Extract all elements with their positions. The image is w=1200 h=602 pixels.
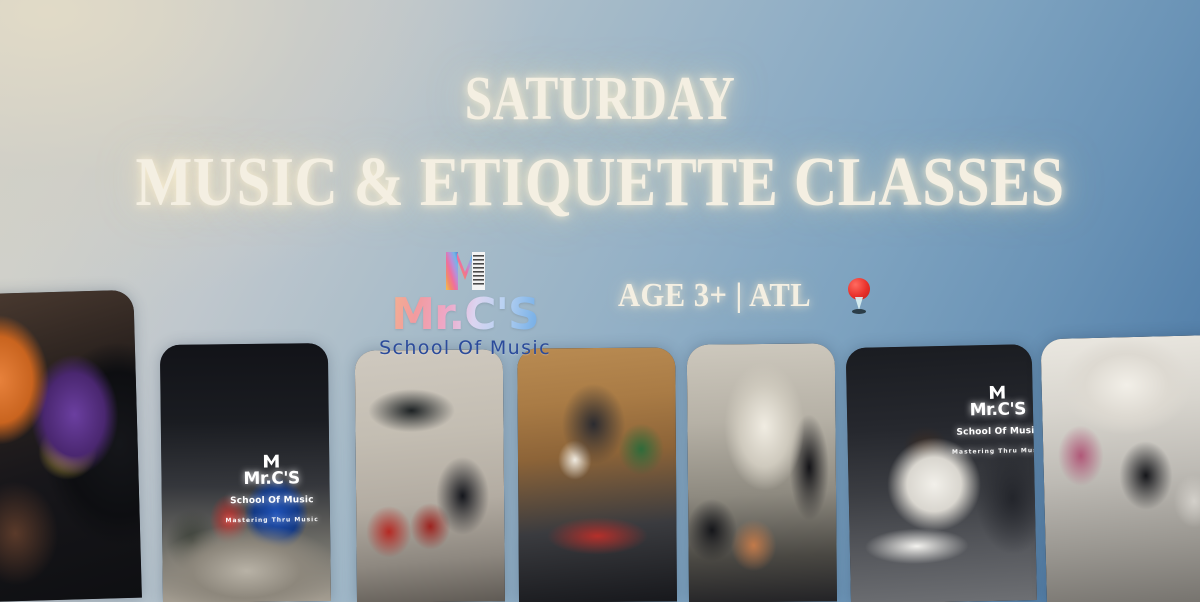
- brand-logo: Mr.C'S School Of Music: [355, 250, 575, 362]
- photo-card-graduation-sash-student: [0, 290, 142, 602]
- photo-card-etiquette-lesson-window: [687, 343, 837, 602]
- brand-wordmark: Mr.C'S: [355, 294, 575, 336]
- map-pin-icon: [846, 278, 872, 314]
- photo-card-keyboard-lesson-holiday: [517, 347, 677, 602]
- photo-image: [0, 290, 142, 602]
- page-title-line-1: SATURDAY: [120, 68, 1080, 130]
- photo-image: [517, 347, 677, 602]
- page-title-line-2: MUSIC & ETIQUETTE CLASSES: [84, 148, 1116, 218]
- photo-card-drum-class-studio: Mr.C'S School Of Music Mastering Thru Mu…: [160, 343, 331, 602]
- photo-card-classroom-red-outfits: [355, 349, 505, 602]
- photo-image: [160, 343, 331, 602]
- photo-card-piano-student-studio: Mr.C'S School Of Music Mastering Thru Mu…: [846, 344, 1037, 602]
- brand-subtitle: School Of Music: [355, 337, 575, 359]
- photo-image: [846, 344, 1037, 602]
- age-location-text: AGE 3+ | ATL: [618, 277, 811, 315]
- event-banner: Mr.C'S School Of Music Mastering Thru Mu…: [0, 0, 1200, 602]
- photo-image: [687, 343, 837, 602]
- photo-card-computer-lab-class: [1041, 335, 1200, 602]
- age-location-line: AGE 3+ | ATL: [618, 272, 918, 320]
- photo-image: [1041, 335, 1200, 602]
- mrc-m-piano-mark-icon: [436, 250, 494, 292]
- photo-image: [355, 349, 505, 602]
